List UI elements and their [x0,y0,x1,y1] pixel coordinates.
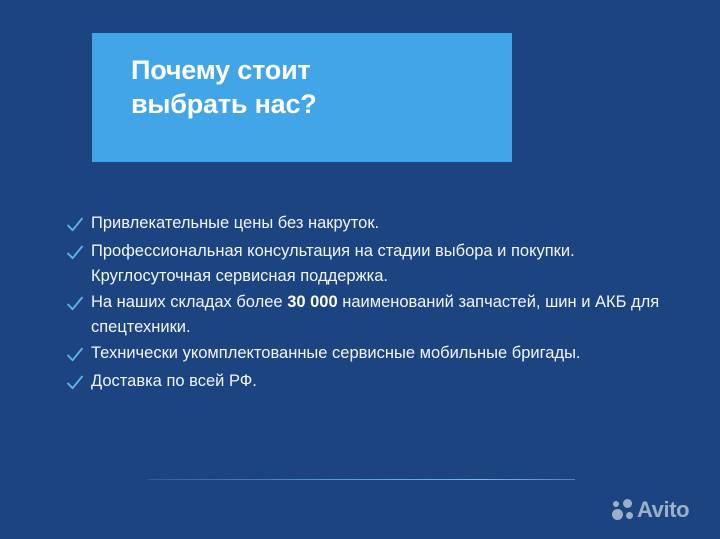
heading-banner: Почему стоит выбрать нас? [92,33,512,162]
benefits-list: Привлекательные цены без накруток. Профе… [64,211,674,397]
page-title-line-1: Почему стоит [131,53,501,87]
list-item-label: Привлекательные цены без накруток. [86,211,674,236]
check-icon [64,212,86,238]
page-title-line-2: выбрать нас? [131,87,501,121]
page-title: Почему стоит выбрать нас? [131,53,501,121]
avito-watermark: Avito [612,499,689,521]
divider [148,479,575,480]
check-icon [64,291,86,317]
list-item-label: Технически укомплектованные сервисные мо… [86,341,674,366]
presentation-slide: Почему стоит выбрать нас? Привлекательны… [0,0,720,539]
avito-dots-icon [612,499,636,521]
list-item: Технически укомплектованные сервисные мо… [64,341,674,368]
check-icon [64,342,86,368]
list-item: Доставка по всей РФ. [64,369,674,396]
list-item-label: Профессиональная консультация на стадии … [86,239,674,289]
list-item-label: На наших складах более 30 000 наименован… [86,290,674,340]
list-item: На наших складах более 30 000 наименован… [64,290,674,340]
avito-wordmark: Avito [637,499,689,521]
check-icon [64,240,86,266]
list-item: Профессиональная консультация на стадии … [64,239,674,289]
list-item-label: Доставка по всей РФ. [86,369,674,394]
list-item: Привлекательные цены без накруток. [64,211,674,238]
check-icon [64,370,86,396]
